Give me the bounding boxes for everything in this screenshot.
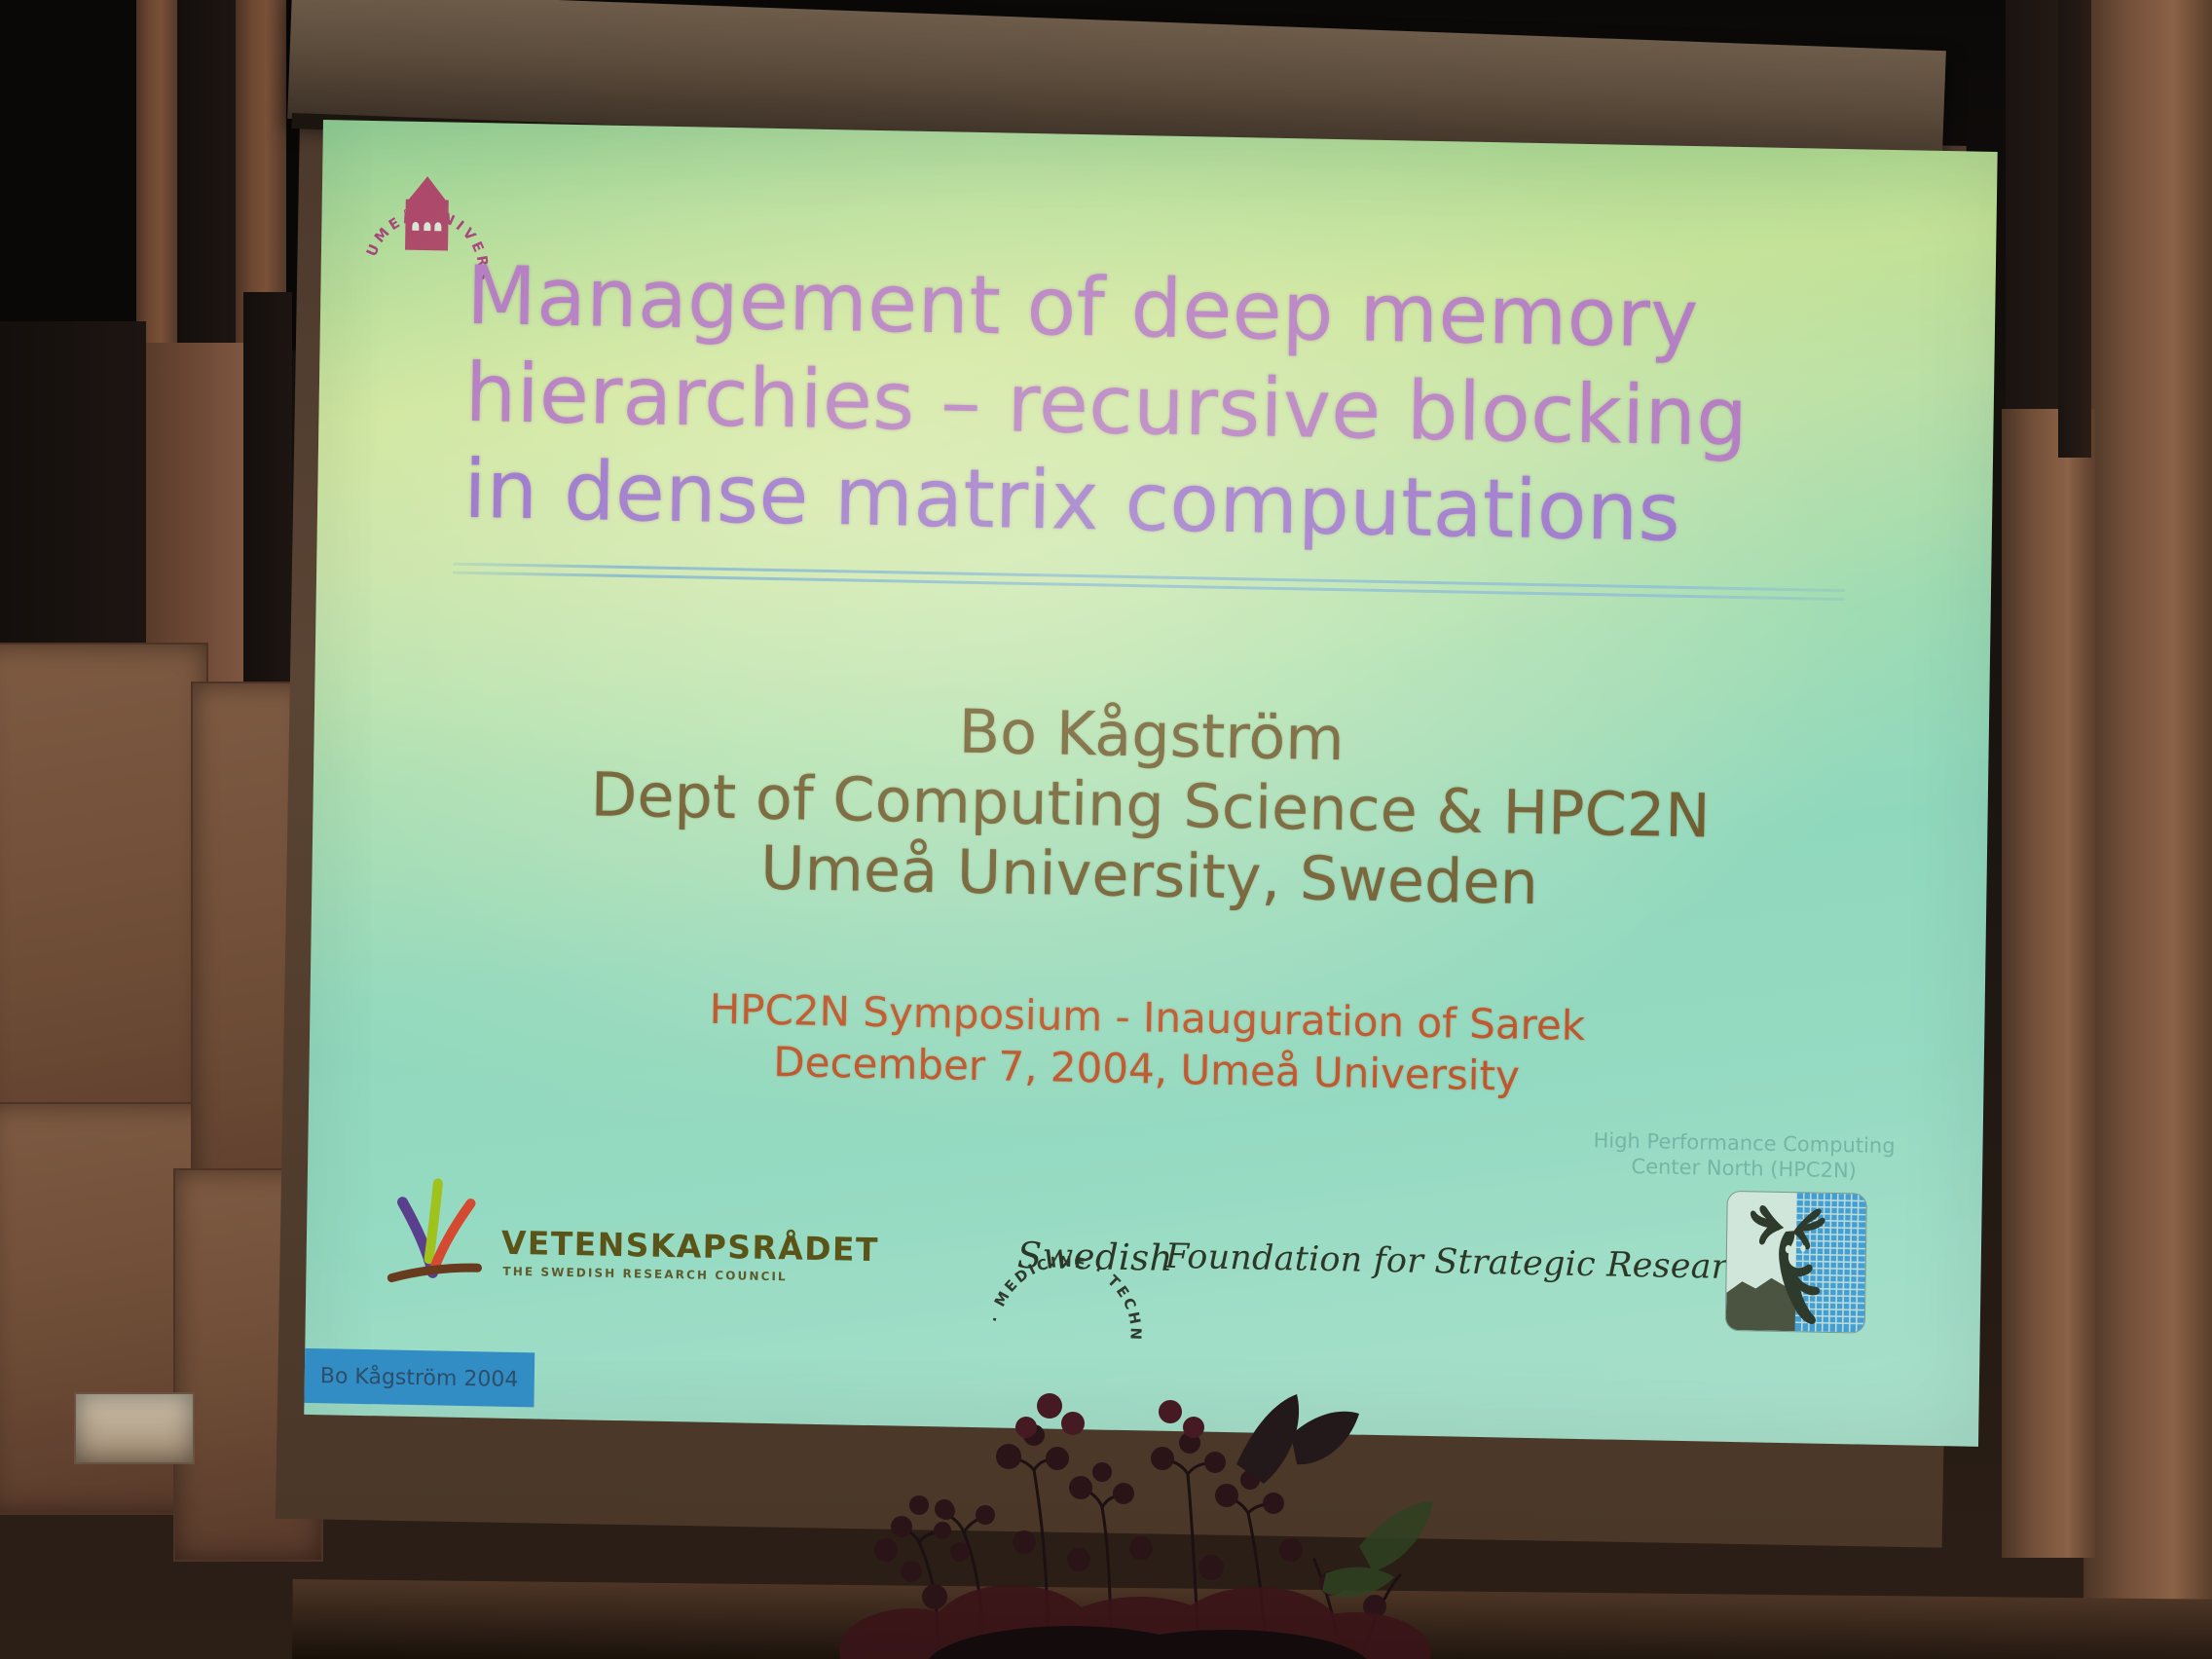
university-house-mark-icon xyxy=(405,176,449,251)
event-block: HPC2N Symposium - Inauguration of Sarek … xyxy=(309,977,1984,1111)
slide-footer-credit: Bo Kågström 2004 xyxy=(320,1364,519,1392)
ssf-logo: · MEDICINE · TECHNOLOGY · SCIENCE Swedis… xyxy=(986,1158,1671,1370)
slide-title: Management of deep memory hierarchies – … xyxy=(463,247,1860,565)
right-wall-pillar xyxy=(2002,409,2095,1558)
hpc2n-logo: High Performance Computing Center North … xyxy=(1586,1127,1911,1377)
title-divider-rule xyxy=(453,563,1845,601)
hpc2n-caption: High Performance Computing Center North … xyxy=(1583,1127,1905,1185)
right-wall-panel xyxy=(2083,0,2212,1659)
sponsor-logo-row: VETENSKAPSRÅDET THE SWEDISH RESEARCH COU… xyxy=(305,1150,1982,1386)
hpc2n-reindeer-grid-icon xyxy=(1725,1191,1867,1334)
screenshot-root: UMEÅ UNIVERSITET · Management of deep me… xyxy=(0,0,2212,1659)
projected-slide: UMEÅ UNIVERSITET · Management of deep me… xyxy=(304,120,1997,1447)
vetenskapsradet-subtitle: THE SWEDISH RESEARCH COUNCIL xyxy=(502,1265,787,1284)
slide-canvas: UMEÅ UNIVERSITET · Management of deep me… xyxy=(304,120,1997,1447)
author-block: Bo Kågström Dept of Computing Science & … xyxy=(312,684,1989,927)
slide-footer-bar: Bo Kågström 2004 xyxy=(304,1348,535,1408)
ssf-word-swedish: Swedish xyxy=(1016,1235,1173,1279)
vetenskapsradet-logo: VETENSKAPSRÅDET THE SWEDISH RESEARCH COU… xyxy=(386,1168,855,1304)
paper-sheet xyxy=(74,1392,195,1464)
hpc2n-caption-line-2: Center North (HPC2N) xyxy=(1583,1153,1904,1185)
vetenskapsradet-name: VETENSKAPSRÅDET xyxy=(501,1224,879,1269)
vetenskapsradet-mark-icon xyxy=(386,1168,495,1287)
right-wall-groove xyxy=(2058,0,2091,458)
